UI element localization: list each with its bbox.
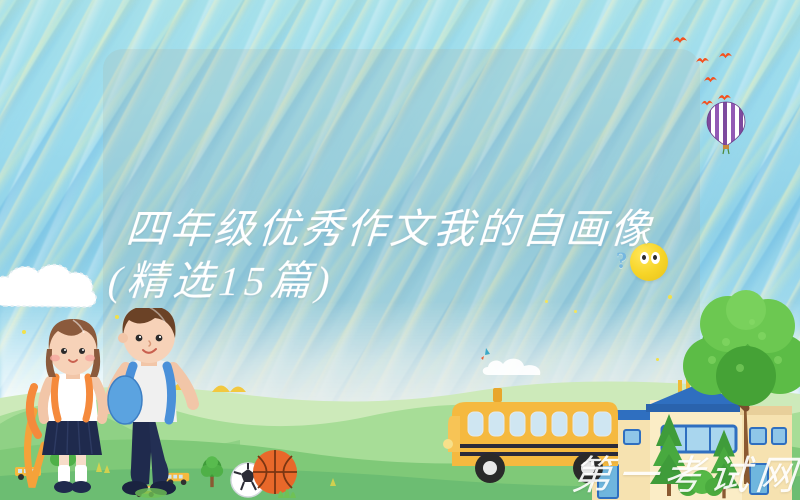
cover-image-canvas: ? 四年级优秀作文我的自画像 (精选15篇) 第一考试网 — [0, 0, 800, 500]
cover-title-line-2: (精选15篇) — [106, 255, 784, 307]
grass-tuft-icon — [274, 476, 298, 498]
cover-title-line-1: 四年级优秀作文我的自画像 — [124, 206, 655, 252]
bird-icon — [703, 74, 718, 85]
site-watermark: 第一考试网 — [569, 443, 800, 500]
bird-icon — [718, 50, 733, 61]
sparkle-dot — [574, 310, 577, 313]
hot-air-balloon-icon — [705, 100, 747, 156]
bird-icon — [695, 55, 710, 66]
bird-icon — [672, 34, 688, 46]
boy-student-character — [83, 308, 213, 500]
cover-title: 四年级优秀作文我的自画像 (精选15篇) — [120, 203, 787, 307]
